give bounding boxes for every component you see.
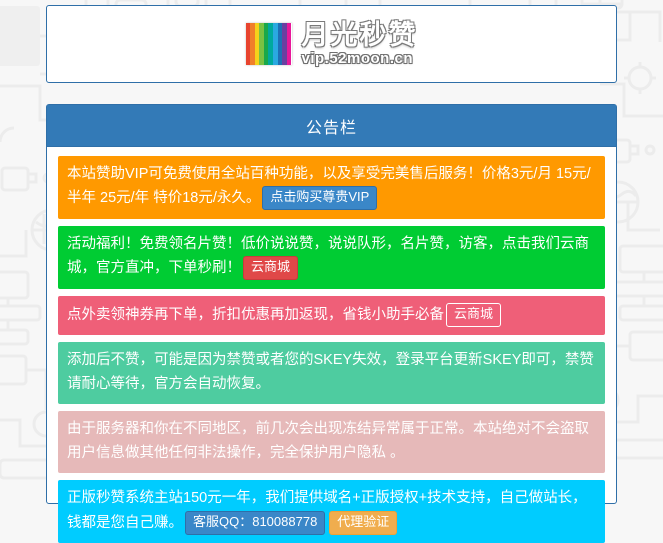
- announcement-panel: 公告栏 本站赞助VIP可免费使用全站百种功能，以及享受完美售后服务！价格3元/月…: [46, 104, 617, 504]
- alert-reseller: 正版秒赞系统主站150元一年，我们提供域名+正版授权+技术支持，自己做站长，钱都…: [58, 480, 605, 543]
- logo-colorbars-icon: [246, 23, 292, 65]
- buy-vip-button[interactable]: 点击购买尊贵VIP: [262, 186, 377, 210]
- panel-title: 公告栏: [47, 105, 616, 147]
- logo-title: 月光秒赞: [302, 21, 418, 49]
- alert-welfare-text: 活动福利！免费领名片赞！低价说说赞，说说队形，名片赞，访客，点击我们云商城，官方…: [67, 236, 589, 276]
- panel-body: 本站赞助VIP可免费使用全站百种功能，以及享受完美售后服务！价格3元/月 15元…: [47, 147, 616, 543]
- alert-privacy: 由于服务器和你在不同地区，前几次会出现冻结异常属于正常。本站绝对不会盗取用户信息…: [58, 411, 605, 473]
- alert-takeout-text: 点外卖领神券再下单，折扣优惠再加返现，省钱小助手必备: [67, 307, 444, 323]
- page-root: 月光秒赞 vip.52moon.cn 公告栏 本站赞助VIP可免费使用全站百种功…: [0, 0, 663, 509]
- alert-skey: 添加后不赞，可能是因为禁赞或者您的SKEY失效，登录平台更新SKEY即可，禁赞请…: [58, 342, 605, 404]
- alert-skey-text: 添加后不赞，可能是因为禁赞或者您的SKEY失效，登录平台更新SKEY即可，禁赞请…: [67, 352, 594, 391]
- cloud-mall-button-2[interactable]: 云商城: [446, 303, 501, 327]
- alert-privacy-text: 由于服务器和你在不同地区，前几次会出现冻结异常属于正常。本站绝对不会盗取用户信息…: [67, 421, 589, 460]
- alert-welfare: 活动福利！免费领名片赞！低价说说赞，说说队形，名片赞，访客，点击我们云商城，官方…: [58, 226, 605, 289]
- logo-subtitle: vip.52moon.cn: [302, 50, 418, 67]
- logo-text: 月光秒赞 vip.52moon.cn: [302, 21, 418, 67]
- agent-verify-button[interactable]: 代理验证: [329, 511, 397, 535]
- cloud-mall-button-1[interactable]: 云商城: [243, 256, 298, 280]
- alert-vip: 本站赞助VIP可免费使用全站百种功能，以及享受完美售后服务！价格3元/月 15元…: [58, 156, 605, 219]
- logo-panel: 月光秒赞 vip.52moon.cn: [46, 5, 617, 83]
- alert-takeout: 点外卖领神券再下单，折扣优惠再加返现，省钱小助手必备云商城: [58, 296, 605, 335]
- service-qq-button[interactable]: 客服QQ：810088778: [185, 511, 325, 535]
- alert-reseller-text: 正版秒赞系统主站150元一年，我们提供域名+正版授权+技术支持，自己做站长，钱都…: [67, 490, 587, 530]
- site-logo[interactable]: 月光秒赞 vip.52moon.cn: [246, 21, 418, 67]
